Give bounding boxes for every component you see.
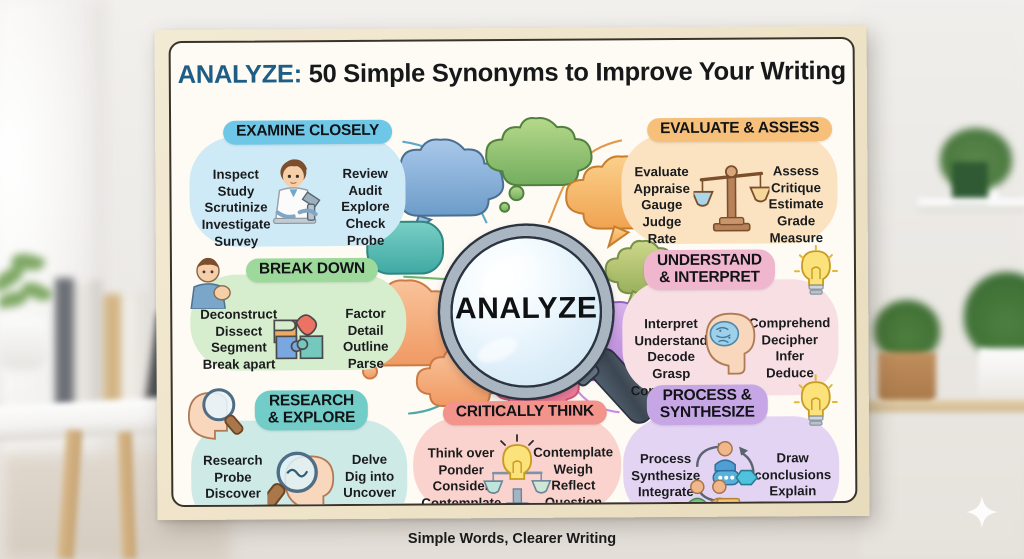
word: Delve <box>203 503 262 507</box>
word: Explore <box>341 199 389 216</box>
poster-canvas: ANALYZE: 50 Simple Synonyms to Improve Y… <box>169 37 858 507</box>
word: Grasp <box>631 366 712 383</box>
wall-shelf-lower <box>866 400 1024 412</box>
word: Process <box>631 451 700 468</box>
word: Measure <box>769 230 824 247</box>
word-list-left: Research Probe Discover Delve Dig into <box>203 453 263 508</box>
word: Question <box>533 494 613 507</box>
word-list-right: Contemplate Weigh Reflect Question Chall… <box>533 444 613 507</box>
word: Critique <box>768 180 823 197</box>
category-body: Process Synthesize Integrate Connect Dra… <box>623 416 840 507</box>
word: Consider <box>421 478 501 495</box>
sparkle-icon <box>965 495 999 529</box>
word: Comprehend <box>749 315 830 332</box>
word: Decipher <box>749 332 830 349</box>
book <box>104 294 121 408</box>
category-label: RESEARCH & EXPLORE <box>255 390 369 431</box>
category-body: Inspect Study Scrutinize Investigate Sur… <box>189 136 406 247</box>
word-list-right: Assess Critique Estimate Grade Measure <box>768 163 823 247</box>
word: Deconstruct <box>200 306 277 323</box>
word: Investigate <box>202 217 271 234</box>
plant-pot-left <box>0 318 46 370</box>
category-label: PROCESS & SYNTHESIZE <box>647 384 768 425</box>
category-body: Research Probe Discover Delve Dig into D… <box>191 420 408 507</box>
cactus-pot <box>952 162 988 202</box>
word: Scrutinize <box>202 200 271 217</box>
category-body: Think over Ponder Consider Contemplate W… <box>413 416 622 507</box>
wall-shelf-upper <box>918 198 1024 206</box>
book <box>90 280 103 408</box>
word: Uncover <box>340 485 399 502</box>
category-label: CRITICALLY THINK <box>443 400 607 425</box>
word: Inspect <box>201 166 270 183</box>
category-label: UNDERSTAND & INTERPRET <box>644 249 775 290</box>
word: Understand <box>630 332 711 349</box>
word-list-left: Think over Ponder Consider Contemplate W… <box>421 445 501 507</box>
word: Study <box>201 183 270 200</box>
word: Outline <box>343 339 389 356</box>
word: Research <box>203 453 262 470</box>
infographic-poster: ANALYZE: 50 Simple Synonyms to Improve Y… <box>155 26 870 520</box>
center-keyword: ANALYZE <box>440 291 612 326</box>
word: Audit <box>341 182 389 199</box>
word: Parse <box>343 356 389 373</box>
word-list-left: Deconstruct Dissect Segment Break apart <box>200 306 277 373</box>
footer-caption: Simple Words, Clearer Writing <box>0 531 1024 547</box>
word: Factor <box>343 306 389 323</box>
word: Draw <box>754 450 831 467</box>
word-list-right: Review Audit Explore Check Probe <box>341 166 390 250</box>
word-list-right: Factor Detail Outline Parse <box>343 306 389 373</box>
category-body: Deconstruct Dissect Segment Break apart … <box>190 274 407 371</box>
word: Contemplate <box>421 495 501 507</box>
label-line-1: PROCESS & <box>663 387 752 405</box>
book <box>75 284 89 408</box>
word: Rate <box>634 231 691 248</box>
word-list-left: Evaluate Appraise Gauge Judge Rate <box>633 164 690 248</box>
word: Probe <box>341 232 389 249</box>
word: Check <box>341 216 389 233</box>
category-body: Evaluate Appraise Gauge Judge Rate Asses… <box>621 133 838 244</box>
word: Judge <box>634 214 691 231</box>
word: Assess <box>768 163 823 180</box>
screenshot-scene: ANALYZE: 50 Simple Synonyms to Improve Y… <box>0 0 1024 559</box>
word: Dissect <box>200 323 277 340</box>
white-pot <box>978 348 1024 404</box>
word-list-right: Draw conclusions Explain Clarify <box>754 450 831 507</box>
word-list-right: Delve Dig into Uncover Look into Search <box>340 452 400 507</box>
category-body: Interpret Understand Decode Grasp Compre… <box>622 279 839 396</box>
word: Clarify <box>754 500 831 507</box>
book <box>122 298 134 408</box>
word: Grade <box>769 213 824 230</box>
book <box>55 278 74 408</box>
snake-plant <box>874 300 940 360</box>
word: Review <box>341 166 389 183</box>
word: Integrate <box>631 484 700 501</box>
word: Estimate <box>769 196 824 213</box>
label-line-1: UNDERSTAND <box>657 251 762 269</box>
category-label: BREAK DOWN <box>246 258 378 283</box>
word: Gauge <box>634 197 691 214</box>
label-line-2: SYNTHESIZE <box>660 403 755 421</box>
word: conclusions <box>754 467 831 484</box>
word: Break apart <box>201 356 278 373</box>
word: Segment <box>200 340 277 357</box>
word: Synthesize <box>631 468 700 485</box>
word: Detail <box>343 322 389 339</box>
word-list-right: Comprehend Decipher Infer Deduce <box>749 315 831 382</box>
category-label: EVALUATE & ASSESS <box>647 117 832 142</box>
word: Dig into <box>340 468 399 485</box>
terracotta-pot <box>878 352 936 404</box>
word: Probe <box>203 469 262 486</box>
word: Contemplate <box>533 444 613 461</box>
label-line-2: & INTERPRET <box>659 268 760 286</box>
word: Decode <box>630 349 711 366</box>
word: Interpret <box>630 316 711 333</box>
word: Connect <box>631 501 700 507</box>
word: Delve <box>340 452 399 469</box>
word-list-left: Inspect Study Scrutinize Investigate Sur… <box>201 166 270 250</box>
lens-highlight-secondary <box>474 333 520 367</box>
label-line-1: RESEARCH <box>269 392 354 410</box>
category-label: EXAMINE CLOSELY <box>223 120 392 145</box>
word: Infer <box>749 348 830 365</box>
word-list-left: Process Synthesize Integrate Connect <box>631 451 700 507</box>
word: Explain <box>754 483 831 500</box>
word: Look into <box>340 502 399 507</box>
word: Deduce <box>749 365 830 382</box>
magnifying-glass-icon: ANALYZE <box>440 225 637 422</box>
word: Evaluate <box>633 164 690 181</box>
word: Ponder <box>421 462 501 479</box>
label-line-2: & EXPLORE <box>268 409 355 427</box>
word: Survey <box>202 233 271 250</box>
word: Reflect <box>533 478 613 495</box>
word: Discover <box>203 486 262 503</box>
word: Appraise <box>633 181 690 198</box>
word: Weigh <box>533 461 613 478</box>
word: Think over <box>421 445 501 462</box>
